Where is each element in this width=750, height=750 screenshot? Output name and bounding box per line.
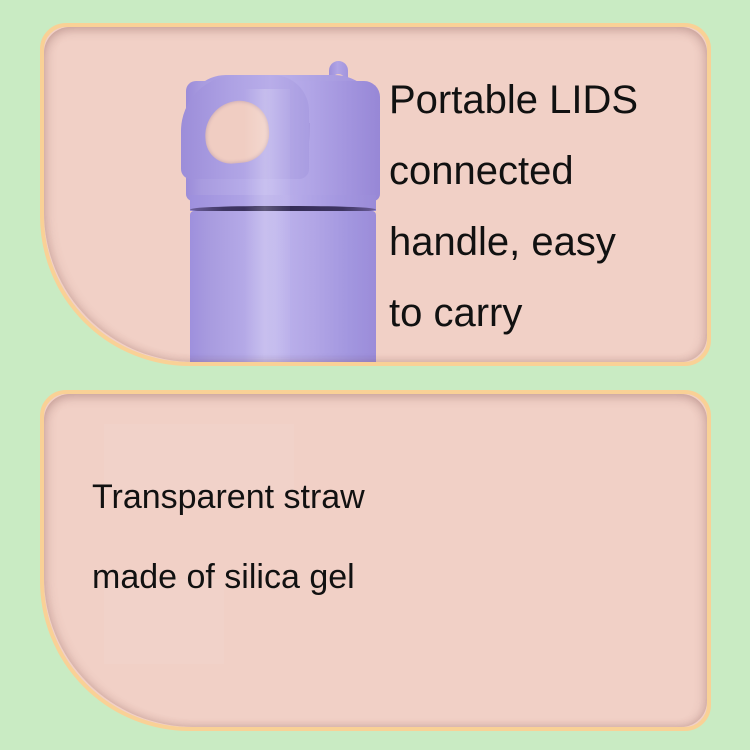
feature-text-lid-line-1: Portable LIDS xyxy=(389,65,709,136)
feature-text-straw: Transparent straw made of silica gel xyxy=(92,457,512,617)
feature-panel-straw: Transparent straw made of silica gel xyxy=(40,390,711,731)
infographic-canvas: Portable LIDS connected handle, easy to … xyxy=(0,0,750,750)
feature-text-lid-line-3: handle, easy xyxy=(389,207,709,278)
feature-text-lid-line-4: to carry xyxy=(389,278,709,349)
feature-text-lid-line-2: connected xyxy=(389,136,709,207)
water-bottle-image xyxy=(148,45,388,366)
bottle-body xyxy=(190,211,376,366)
feature-text-straw-line-1: Transparent straw xyxy=(92,457,512,537)
feature-panel-lid: Portable LIDS connected handle, easy to … xyxy=(40,23,711,366)
feature-text-straw-line-2: made of silica gel xyxy=(92,537,512,617)
feature-text-lid: Portable LIDS connected handle, easy to … xyxy=(389,65,709,349)
